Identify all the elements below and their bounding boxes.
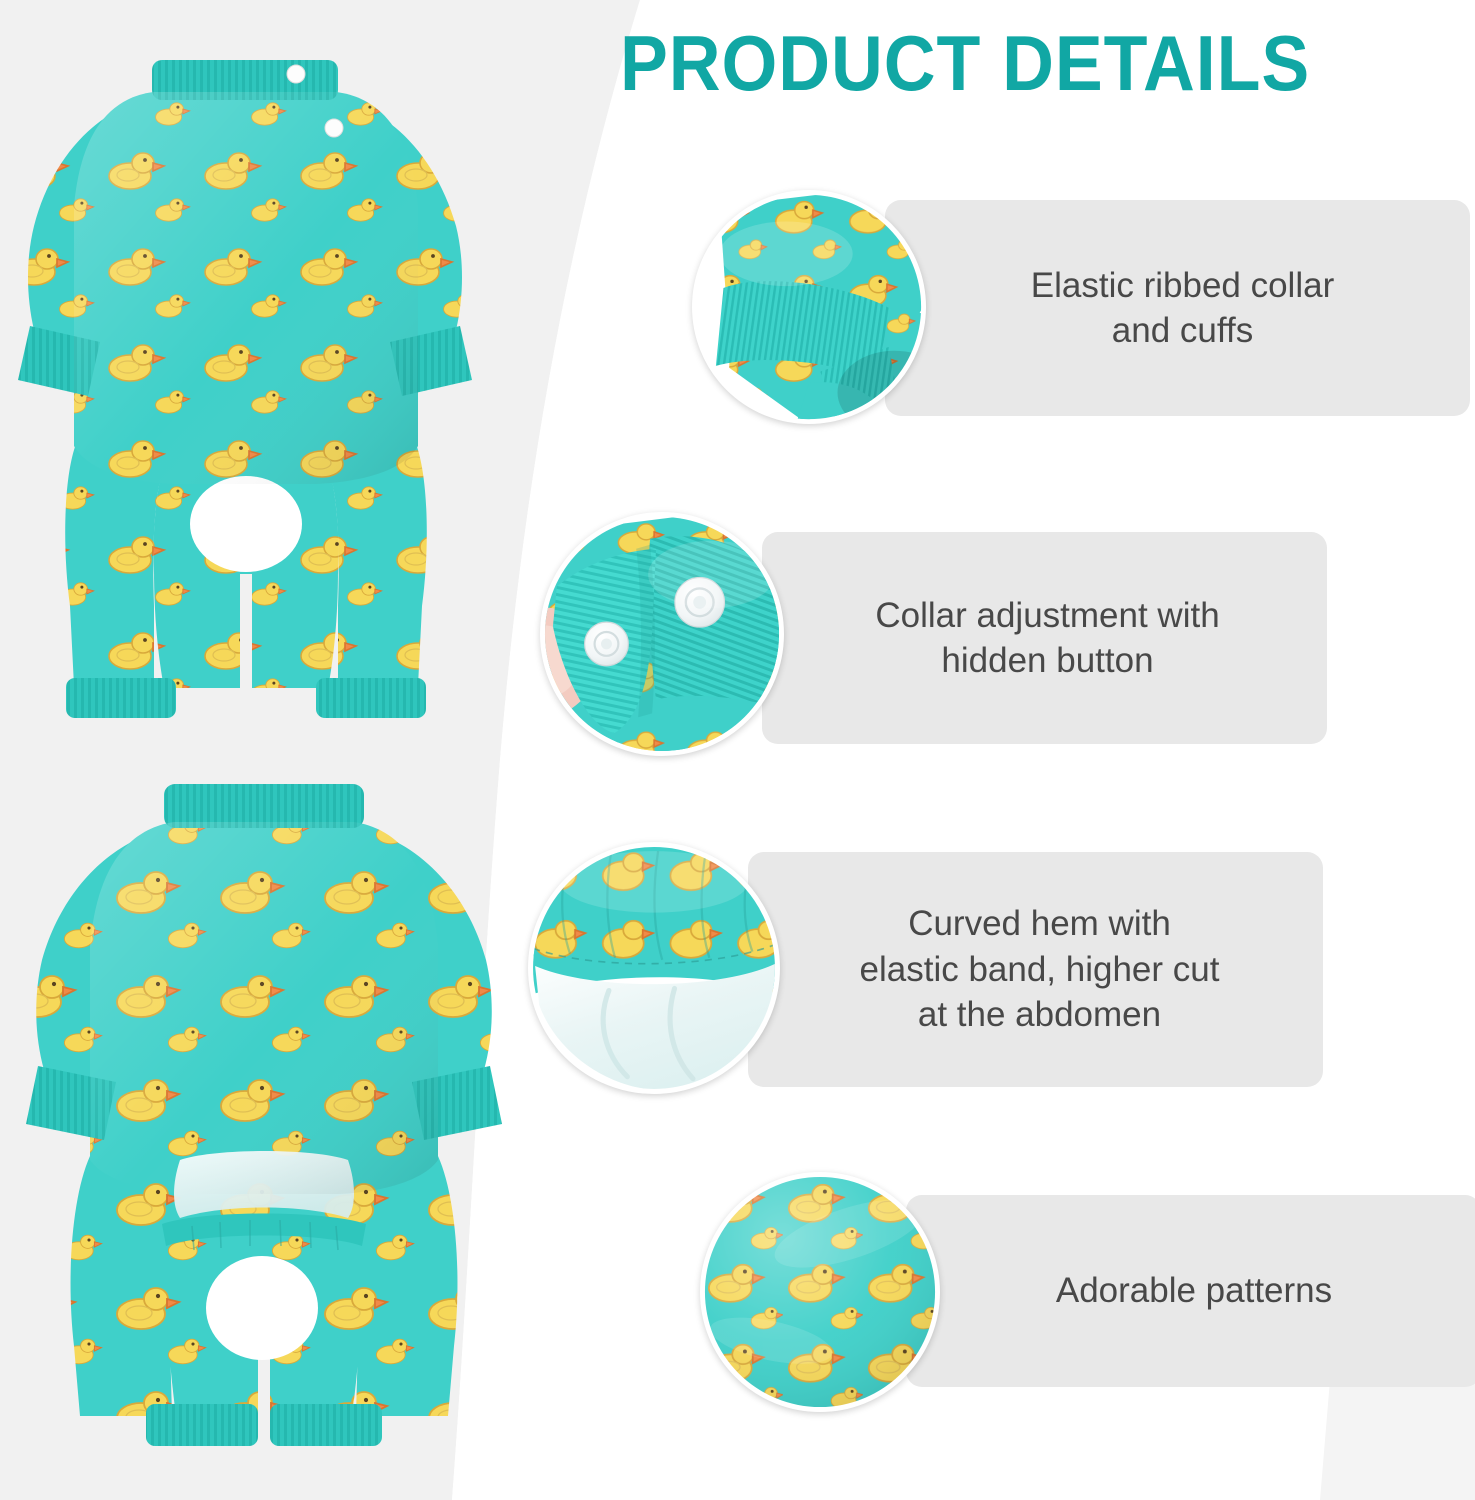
product-photo-back-view[interactable]	[4, 46, 504, 746]
feature-image-curved-elastic-hem-closeup[interactable]	[528, 842, 780, 1094]
feature-label-line: hidden button	[875, 638, 1219, 684]
feature-label: Adorable patterns	[920, 1195, 1468, 1387]
feature-label-line: Curved hem with	[860, 901, 1220, 947]
feature-label-line: Collar adjustment with	[875, 593, 1219, 639]
page-title: PRODUCT DETAILS	[620, 18, 1470, 108]
feature-label: Elastic ribbed collar and cuffs	[900, 200, 1465, 416]
feature-image-hidden-snap-button-closeup[interactable]	[540, 512, 784, 756]
product-photo-belly-view[interactable]	[4, 756, 524, 1486]
feature-label-line: and cuffs	[1031, 308, 1334, 354]
feature-image-duck-pattern-closeup[interactable]	[700, 1172, 940, 1412]
feature-label-line: Adorable patterns	[1056, 1268, 1332, 1314]
product-details-infographic: PRODUCT DETAILS Elastic ribbed collar an…	[0, 0, 1475, 1500]
feature-label-line: elastic band, higher cut	[860, 947, 1220, 993]
feature-label: Curved hem with elastic band, higher cut…	[762, 852, 1317, 1087]
feature-label: Collar adjustment with hidden button	[775, 532, 1320, 744]
feature-label-line: Elastic ribbed collar	[1031, 263, 1334, 309]
product-photo-column	[0, 0, 520, 1500]
page-title-text: PRODUCT DETAILS	[620, 24, 1310, 102]
feature-label-line: at the abdomen	[860, 992, 1220, 1038]
feature-image-ribbed-cuff-closeup[interactable]	[692, 190, 926, 424]
